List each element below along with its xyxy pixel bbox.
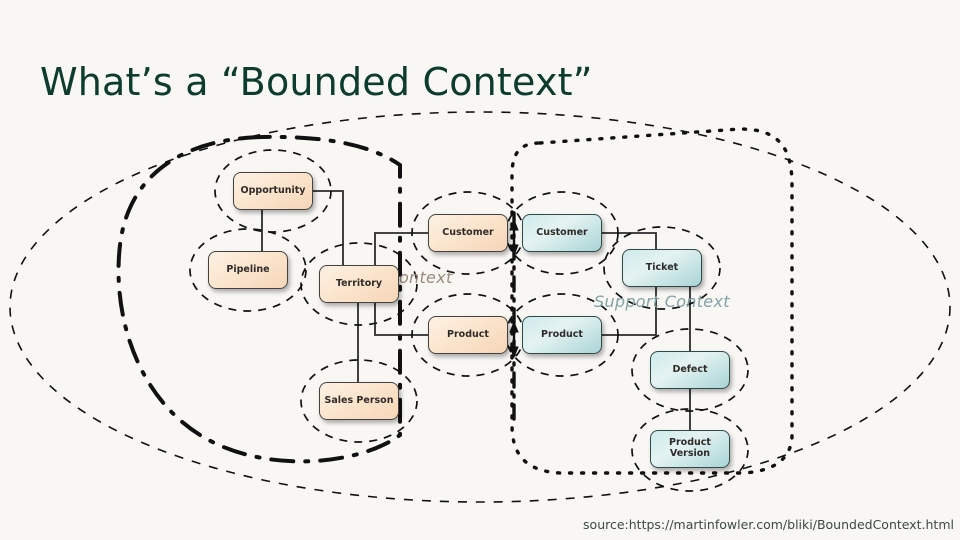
node-defect[interactable]: Defect [650,351,730,389]
page-title: What’s a “Bounded Context” [40,60,593,104]
node-pipeline[interactable]: Pipeline [208,251,288,289]
node-territory[interactable]: Territory [319,265,399,303]
node-customer-sales[interactable]: Customer [428,214,508,252]
diagram-vector-layer [0,105,960,525]
support-context-label: Support Context [594,292,730,311]
source-note: source:https://martinfowler.com/bliki/Bo… [583,517,954,532]
node-customer-support[interactable]: Customer [522,214,602,252]
node-opportunity[interactable]: Opportunity [233,172,313,210]
node-sales-person[interactable]: Sales Person [319,382,399,420]
node-product-sales[interactable]: Product [428,316,508,354]
node-product-version[interactable]: ProductVersion [650,430,730,468]
bounded-context-diagram: Sales Context Support Context Opportunit… [0,105,960,525]
edge-customer-ticket [602,233,656,249]
slide-canvas: What’s a “Bounded Context” [0,0,960,540]
node-ticket[interactable]: Ticket [622,249,702,287]
node-product-support[interactable]: Product [522,316,602,354]
overall-domain-boundary [10,112,950,502]
edge-opportunity-territory [313,191,343,265]
